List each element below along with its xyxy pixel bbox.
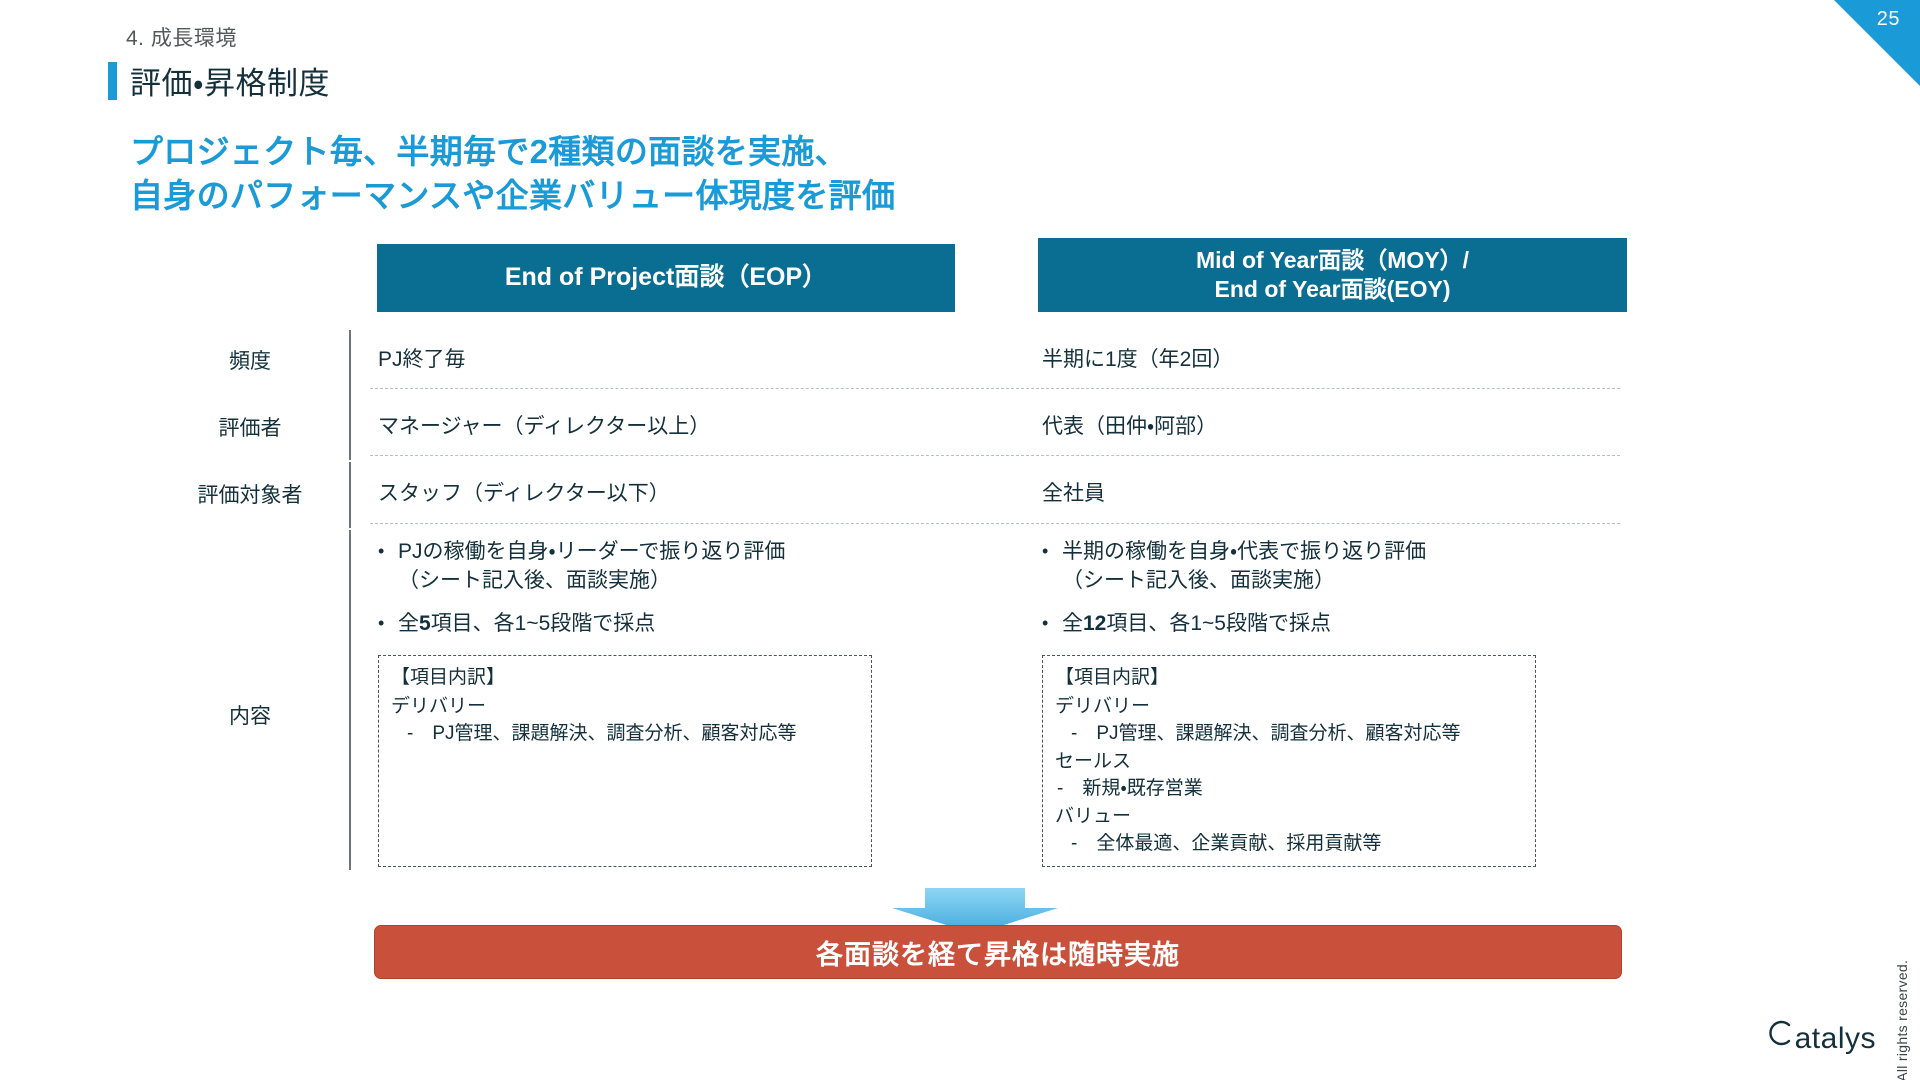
column-divider-bottom — [349, 530, 351, 870]
page-title: 評価・昇格制度 — [108, 58, 330, 103]
column-header-moy-label: Mid of Year面談（MOY）/ — [1196, 246, 1469, 275]
bullet-dot-icon: • — [1042, 610, 1062, 639]
column-divider-mid — [349, 462, 351, 528]
slide-canvas: 25 4. 成長環境 評価・昇格制度 プロジェクト毎、半期毎で2種類の面談を実施… — [0, 0, 1920, 1080]
bullet-dot-icon: • — [378, 610, 398, 639]
bullet-moy-2-post: 項目、各1~5段階で採点 — [1106, 612, 1331, 635]
cell-evaluator-eop: マネージャー（ディレクター以上） — [378, 412, 710, 441]
row-label-evaluator: 評価者 — [160, 412, 340, 442]
cell-evaluator-moy: 代表（田仲・阿部） — [1042, 412, 1217, 441]
bullet-moy-2-pre: 全 — [1062, 612, 1083, 635]
detail-item-moy-value-1: - 全体最適、企業貢献、採用貢献等 — [1055, 831, 1525, 858]
title-accent-bar — [108, 62, 117, 100]
bullet-eop-2: • 全5項目、各1~5段階で採点 — [378, 610, 938, 639]
page-title-text: 評価・昇格制度 — [130, 58, 330, 103]
bullet-dot-icon: • — [1042, 538, 1062, 596]
bullet-moy-1-line2: （シート記入後、面談実施） — [1062, 569, 1335, 592]
bullet-eop-1-line1: PJの稼働を自身・リーダーで振り返り評価 — [398, 540, 785, 563]
summary-banner: 各面談を経て昇格は随時実施 — [374, 925, 1622, 979]
column-header-moy-eoy: Mid of Year面談（MOY）/ End of Year面談(EOY) — [1038, 238, 1627, 312]
bullets-moy: • 半期の稼働を自身・代表で振り返り評価 （シート記入後、面談実施） • 全12… — [1042, 538, 1602, 653]
bullet-eop-2-count: 5 — [419, 612, 431, 635]
row-label-evaluatee: 評価対象者 — [160, 479, 340, 509]
bullet-dot-icon: • — [378, 538, 398, 596]
detail-group-moy-value: バリュー — [1055, 804, 1525, 831]
detail-box-eop: 【項目内訳】 デリバリー - PJ管理、課題解決、調査分析、顧客対応等 — [378, 655, 872, 867]
bullet-eop-2-pre: 全 — [398, 612, 419, 635]
bullet-eop-1: • PJの稼働を自身・リーダーで振り返り評価 （シート記入後、面談実施） — [378, 538, 938, 596]
detail-box-moy-heading: 【項目内訳】 — [1055, 665, 1525, 692]
bullet-eop-1-line2: （シート記入後、面談実施） — [398, 569, 671, 592]
column-header-eoy-label: End of Year面談(EOY) — [1196, 275, 1469, 304]
logo-wordmark: atalys — [1795, 1022, 1876, 1056]
detail-item-eop-delivery-1: - PJ管理、課題解決、調査分析、顧客対応等 — [391, 721, 861, 748]
cell-evaluatee-moy: 全社員 — [1042, 479, 1105, 508]
lead-statement: プロジェクト毎、半期毎で2種類の面談を実施、 自身のパフォーマンスや企業バリュー… — [130, 130, 895, 218]
detail-group-moy-delivery: デリバリー — [1055, 694, 1525, 721]
summary-banner-text: 各面談を経て昇格は随時実施 — [816, 933, 1180, 972]
bullets-eop: • PJの稼働を自身・リーダーで振り返り評価 （シート記入後、面談実施） • 全… — [378, 538, 938, 653]
detail-group-moy-sales: セールス — [1055, 749, 1525, 776]
page-number: 25 — [1877, 8, 1900, 31]
row-divider-3 — [370, 523, 1620, 524]
detail-item-moy-delivery-1: - PJ管理、課題解決、調査分析、顧客対応等 — [1055, 721, 1525, 748]
bullet-eop-2-post: 項目、各1~5段階で採点 — [431, 612, 656, 635]
detail-box-eop-heading: 【項目内訳】 — [391, 665, 861, 692]
lead-line-1: プロジェクト毎、半期毎で2種類の面談を実施、 — [130, 130, 895, 174]
cell-frequency-moy: 半期に1度（年2回） — [1042, 345, 1233, 374]
detail-group-eop-delivery: デリバリー — [391, 694, 861, 721]
row-divider-2 — [370, 455, 1620, 456]
company-logo: atalys — [1764, 1018, 1876, 1056]
bullet-moy-1: • 半期の稼働を自身・代表で振り返り評価 （シート記入後、面談実施） — [1042, 538, 1602, 596]
row-divider-1 — [370, 388, 1620, 389]
bullet-moy-1-line1: 半期の稼働を自身・代表で振り返り評価 — [1062, 540, 1426, 563]
lead-line-2: 自身のパフォーマンスや企業バリュー体現度を評価 — [130, 174, 895, 218]
cell-frequency-eop: PJ終了毎 — [378, 345, 466, 374]
logo-c-icon — [1764, 1018, 1794, 1048]
column-divider-top — [349, 330, 351, 460]
column-header-eop: End of Project面談（EOP） — [377, 244, 955, 312]
bullet-moy-2: • 全12項目、各1~5段階で採点 — [1042, 610, 1602, 639]
detail-item-moy-sales-1: - 新規・既存営業 — [1055, 776, 1525, 803]
column-header-eop-label: End of Project面談（EOP） — [505, 262, 827, 293]
cell-evaluatee-eop: スタッフ（ディレクター以下） — [378, 479, 670, 508]
section-eyebrow: 4. 成長環境 — [126, 22, 237, 52]
row-label-content: 内容 — [160, 700, 340, 730]
bullet-moy-2-count: 12 — [1083, 612, 1106, 635]
detail-box-moy: 【項目内訳】 デリバリー - PJ管理、課題解決、調査分析、顧客対応等 セールス… — [1042, 655, 1536, 867]
row-label-frequency: 頻度 — [160, 345, 340, 375]
copyright-text: Copyright © 2025 by Catalys Inc. All rig… — [1894, 960, 1910, 1080]
